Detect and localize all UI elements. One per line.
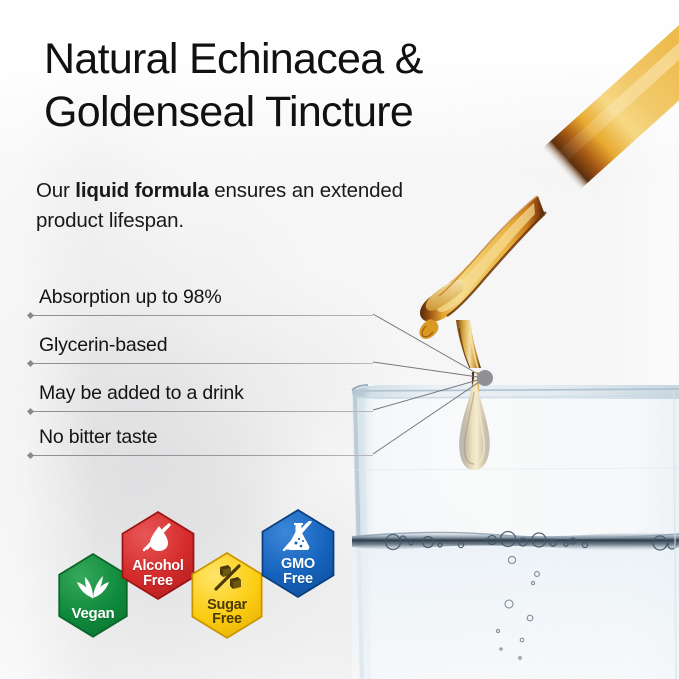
droplet-slash-icon [142, 523, 174, 558]
feature-rule [28, 411, 373, 412]
badge-label: GMO Free [281, 557, 315, 587]
subtitle-lead: Our [36, 179, 75, 202]
sugar-cubes-slash-icon [211, 564, 243, 597]
badge-label: Vegan [72, 606, 115, 621]
feature-row-add-to-drink: May be added to a drink [28, 382, 373, 412]
feature-row-no-bitter-taste: No bitter taste [28, 426, 373, 456]
feature-label: Glycerin-based [28, 334, 373, 357]
badge-label: Alcohol Free [132, 559, 183, 589]
feature-rule [28, 315, 373, 316]
feature-label: Absorption up to 98% [28, 286, 373, 309]
feature-label: May be added to a drink [28, 382, 373, 405]
feature-rule [28, 363, 373, 364]
feature-row-glycerin: Glycerin-based [28, 334, 373, 364]
leaf-icon [76, 570, 110, 605]
feature-row-absorption: Absorption up to 98% [28, 286, 373, 316]
water-glass-group [352, 385, 679, 679]
feature-rule [28, 455, 373, 456]
flask-slash-icon [282, 521, 314, 556]
product-infographic: Natural Echinacea & Goldenseal Tincture … [0, 0, 679, 679]
badge-label: Sugar Free [207, 598, 247, 628]
subtitle: Our liquid formula ensures an extended p… [36, 176, 436, 236]
subtitle-emphasis: liquid formula [75, 179, 208, 202]
callout-converge-dot [477, 370, 493, 386]
feature-label: No bitter taste [28, 426, 373, 449]
badge-gmo-free: GMO Free [256, 509, 340, 598]
page-title: Natural Echinacea & Goldenseal Tincture [44, 33, 584, 139]
